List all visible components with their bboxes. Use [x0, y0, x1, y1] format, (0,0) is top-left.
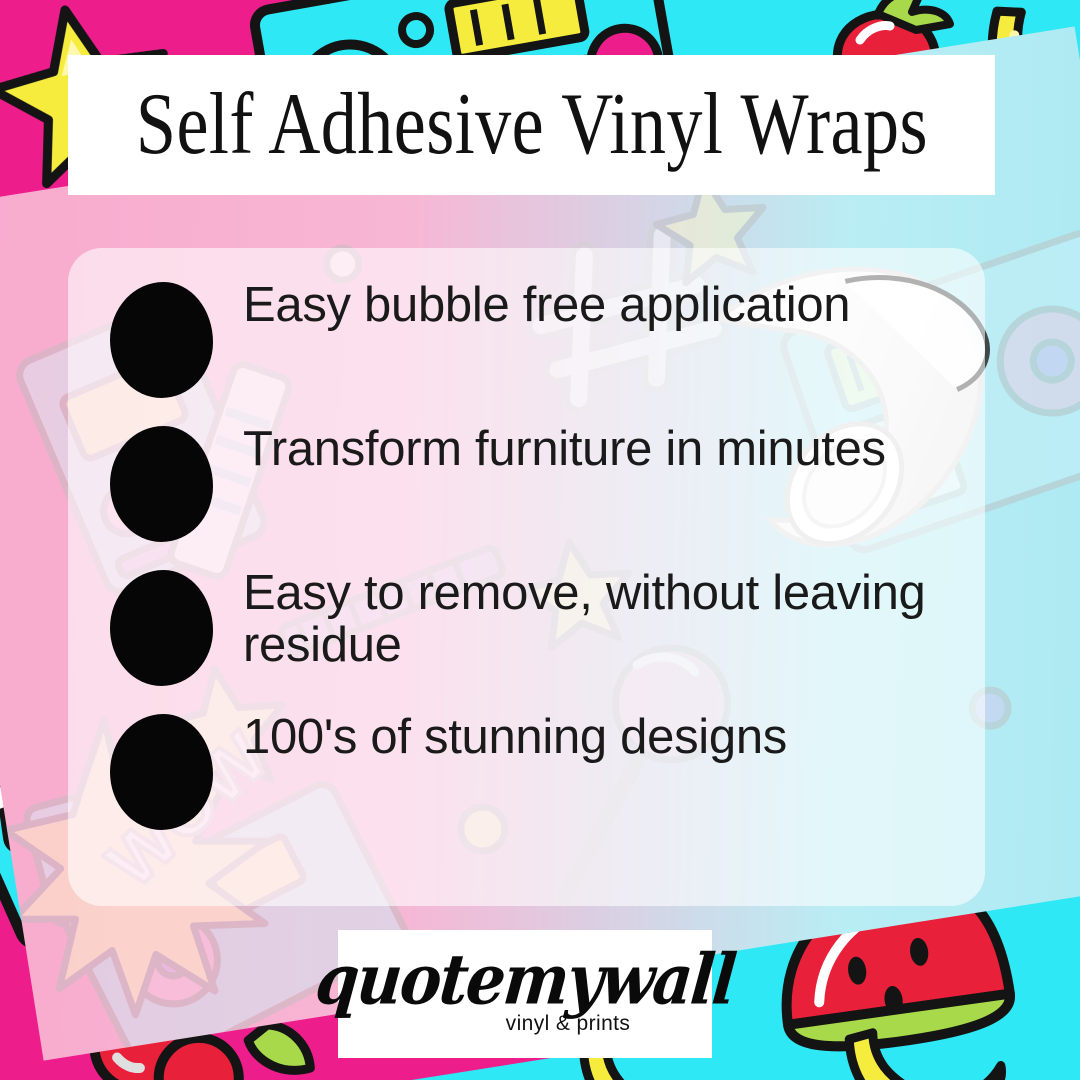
list-item: Transform furniture in minutes	[110, 420, 951, 542]
feature-text: 100's of stunning designs	[243, 708, 787, 764]
filled-circle-bullet-icon	[110, 426, 213, 542]
feature-text: Easy to remove, without leaving residue	[243, 564, 951, 672]
logo-wordmark: quotemywall	[313, 949, 737, 1011]
list-item: 100's of stunning designs	[110, 708, 951, 830]
title-banner: Self Adhesive Vinyl Wraps	[68, 55, 995, 195]
brand-logo: quotemywall vinyl & prints	[338, 930, 712, 1058]
feature-list: Easy bubble free application Transform f…	[110, 276, 951, 830]
list-item: Easy to remove, without leaving residue	[110, 564, 951, 686]
feature-panel: Easy bubble free application Transform f…	[68, 248, 985, 906]
feature-text: Easy bubble free application	[243, 276, 850, 332]
page-title: Self Adhesive Vinyl Wraps	[135, 81, 927, 169]
feature-text: Transform furniture in minutes	[243, 420, 886, 476]
filled-circle-bullet-icon	[110, 714, 213, 830]
poster-canvas: WOW	[0, 0, 1080, 1080]
filled-circle-bullet-icon	[110, 282, 213, 398]
list-item: Easy bubble free application	[110, 276, 951, 398]
filled-circle-bullet-icon	[110, 570, 213, 686]
